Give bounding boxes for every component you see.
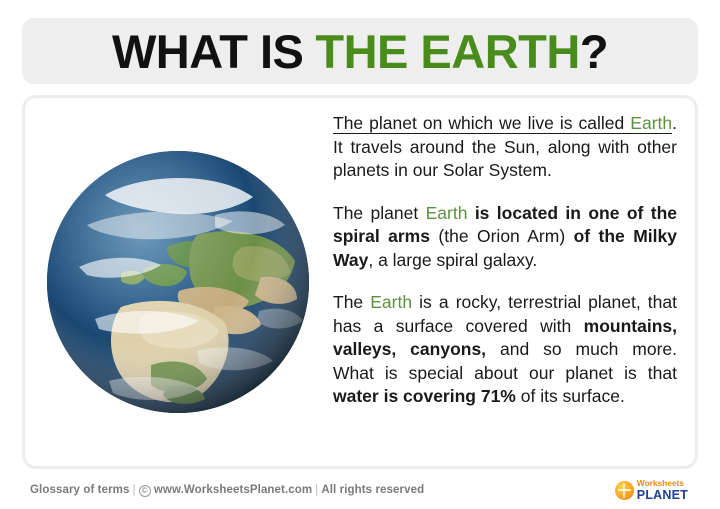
logo-top-word: Worksheets bbox=[637, 479, 688, 488]
logo-bottom-word: PLANET bbox=[637, 489, 688, 502]
worksheets-planet-logo[interactable]: Worksheets PLANET bbox=[615, 479, 696, 501]
title-part-black-1: WHAT IS bbox=[112, 25, 303, 78]
title-card: WHAT ISTHE EARTH? bbox=[22, 18, 698, 84]
p3-s4: of its surface. bbox=[516, 386, 625, 406]
paragraph-1: The planet on which we live is called Ea… bbox=[333, 112, 677, 183]
p1-underlined-lead: The planet on which we live is called bbox=[333, 113, 630, 133]
earth-svg bbox=[47, 151, 309, 413]
illustration-pane bbox=[25, 98, 325, 466]
p2-s2 bbox=[467, 203, 474, 223]
logo-wordmark: Worksheets PLANET bbox=[637, 479, 688, 501]
p1-green-earth: Earth bbox=[630, 113, 672, 133]
p3-green-earth: Earth bbox=[370, 292, 412, 312]
paragraph-3: The Earth is a rocky, terrestrial planet… bbox=[333, 291, 677, 409]
website-link[interactable]: www.WorksheetsPlanet.com bbox=[154, 484, 312, 496]
p2-green-earth: Earth bbox=[426, 203, 468, 223]
content-card: The planet on which we live is called Ea… bbox=[22, 95, 698, 469]
paragraph-2: The planet Earth is located in one of th… bbox=[333, 202, 677, 273]
globe-icon bbox=[615, 481, 634, 500]
p2-s1: The planet bbox=[333, 203, 426, 223]
earth-globe-graphic bbox=[47, 151, 309, 413]
footer-credits: Glossary of terms|© www.WorksheetsPlanet… bbox=[30, 484, 424, 497]
title-part-black-2: ? bbox=[580, 25, 608, 78]
footer-separator-1: | bbox=[130, 484, 139, 496]
title-part-green: THE EARTH bbox=[315, 25, 579, 78]
copyright-icon: © bbox=[139, 485, 151, 497]
earth-globe-image bbox=[47, 151, 309, 413]
glossary-link[interactable]: Glossary of terms bbox=[30, 484, 130, 496]
p2-s3: (the Orion Arm) bbox=[430, 226, 574, 246]
page-title: WHAT ISTHE EARTH? bbox=[112, 28, 608, 75]
p3-bold-2: water is covering 71% bbox=[333, 386, 516, 406]
text-pane: The planet on which we live is called Ea… bbox=[325, 98, 695, 466]
p2-s4: , a large spiral galaxy. bbox=[368, 250, 537, 270]
worksheet-page: WHAT ISTHE EARTH? bbox=[0, 0, 720, 509]
footer: Glossary of terms|© www.WorksheetsPlanet… bbox=[0, 471, 720, 509]
footer-separator-2: | bbox=[312, 484, 321, 496]
p3-s1: The bbox=[333, 292, 370, 312]
rights-text: All rights reserved bbox=[321, 484, 424, 496]
